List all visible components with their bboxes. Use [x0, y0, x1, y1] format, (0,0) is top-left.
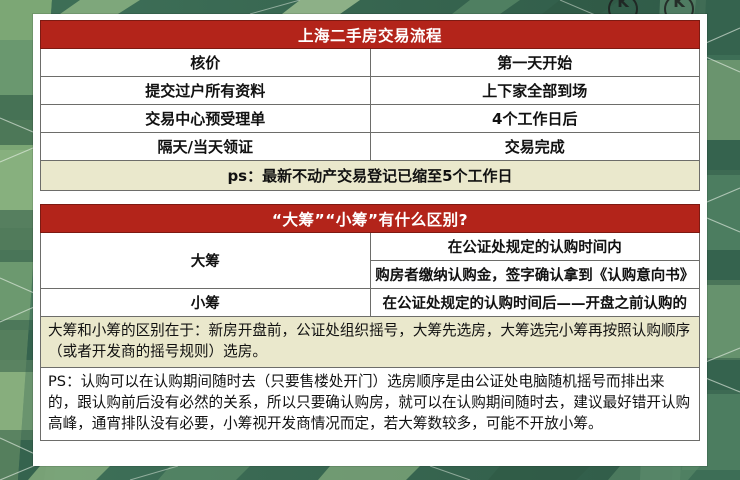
- chou-difference-paragraph: 大筹和小筹的区别在于：新房开盘前，公证处组织摇号，大筹先选房，大筹选完小筹再按照…: [40, 317, 700, 368]
- table-row: 提交过户所有资料 上下家全部到场: [41, 77, 700, 105]
- circle-k-watermark-glyph: K: [610, 0, 636, 11]
- table1-step-cell: 隔天/当天领证: [41, 133, 371, 161]
- chou-comparison-table: “大筹”“小筹”有什么区别? 大筹 在公证处规定的认购时间内 购房者缴纳认购金，…: [40, 204, 700, 317]
- table1-timing-cell: 上下家全部到场: [370, 77, 700, 105]
- table1-timing-cell: 交易完成: [370, 133, 700, 161]
- table2-value-cell: 在公证处规定的认购时间后——开盘之前认购的: [370, 289, 700, 317]
- table2-label-dachou: 大筹: [41, 233, 371, 289]
- table2-value-cell: 在公证处规定的认购时间内: [370, 233, 700, 261]
- table1-timing-cell: 第一天开始: [370, 49, 700, 77]
- section-gap: [40, 191, 700, 204]
- table2-title: “大筹”“小筹”有什么区别?: [41, 205, 700, 233]
- table1-title: 上海二手房交易流程: [41, 21, 700, 49]
- table1-step-cell: 提交过户所有资料: [41, 77, 371, 105]
- table-row: 交易中心预受理单 4个工作日后: [41, 105, 700, 133]
- table1-note-row: ps：最新不动产交易登记已缩至5个工作日: [41, 161, 700, 191]
- circle-k-watermark-glyph: K: [666, 0, 692, 11]
- table2-label-xiaochou: 小筹: [41, 289, 371, 317]
- table1-timing-cell: 4个工作日后: [370, 105, 700, 133]
- table2-value-cell: 购房者缴纳认购金，签字确认拿到《认购意向书》: [370, 261, 700, 289]
- table1-note: ps：最新不动产交易登记已缩至5个工作日: [41, 161, 700, 191]
- table-row: 核价 第一天开始: [41, 49, 700, 77]
- content-root: 上海二手房交易流程 核价 第一天开始 提交过户所有资料 上下家全部到场 交易中心…: [40, 20, 700, 441]
- transaction-process-table: 上海二手房交易流程 核价 第一天开始 提交过户所有资料 上下家全部到场 交易中心…: [40, 20, 700, 191]
- table1-step-cell: 核价: [41, 49, 371, 77]
- table1-step-cell: 交易中心预受理单: [41, 105, 371, 133]
- table-header-row: “大筹”“小筹”有什么区别?: [41, 205, 700, 233]
- table-row: 隔天/当天领证 交易完成: [41, 133, 700, 161]
- ps-notes-paragraph: PS：认购可以在认购期间随时去（只要售楼处开门）选房顺序是由公证处电脑随机摇号而…: [40, 368, 700, 440]
- table-row: 大筹 在公证处规定的认购时间内: [41, 233, 700, 261]
- table-row: 小筹 在公证处规定的认购时间后——开盘之前认购的: [41, 289, 700, 317]
- table-header-row: 上海二手房交易流程: [41, 21, 700, 49]
